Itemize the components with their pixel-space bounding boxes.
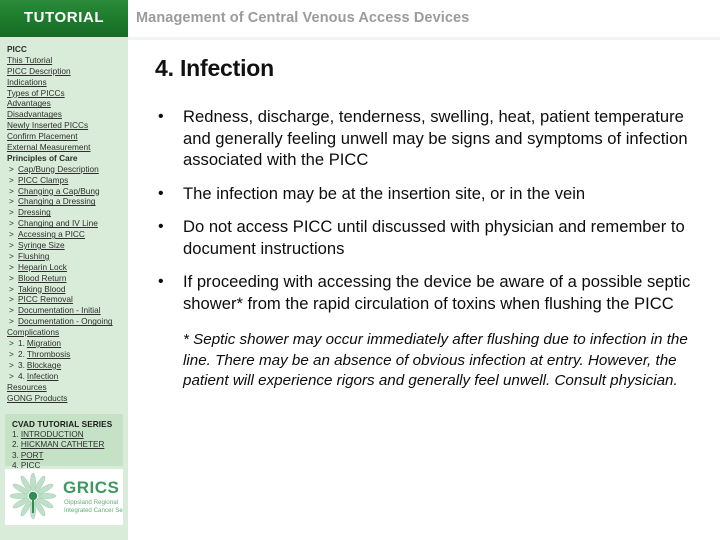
cvad-item-number: 1. (12, 430, 19, 440)
sidebar-item-accessing-a-picc[interactable]: >Accessing a PICC (0, 229, 128, 240)
grics-tagline-line2: Integrated Cancer Services (64, 507, 123, 514)
sidebar-item-label: Accessing a PICC (18, 229, 85, 239)
bullet-text: Redness, discharge, tenderness, swelling… (183, 106, 710, 171)
chevron-right-icon: > (9, 284, 18, 295)
sidebar-item-changing-a-dressing[interactable]: >Changing a Dressing (0, 196, 128, 207)
bullet-item: •Redness, discharge, tenderness, swellin… (155, 106, 710, 171)
sidebar-item-picc-removal[interactable]: >PICC Removal (0, 294, 128, 305)
cvad-item-number: 3. (12, 451, 19, 461)
sidebar-item-complications[interactable]: Complications (0, 327, 128, 338)
sidebar-item-resources[interactable]: Resources (0, 382, 128, 393)
bullet-text: The infection may be at the insertion si… (183, 183, 710, 205)
sidebar-item-changing-a-cap-bung[interactable]: >Changing a Cap/Bung (0, 186, 128, 197)
bullet-marker-icon: • (158, 216, 164, 238)
sidebar-item-migration[interactable]: >1.Migration (0, 338, 128, 349)
bullet-item: •If proceeding with accessing the device… (155, 271, 710, 314)
tutorial-tab-label: TUTORIAL (0, 9, 128, 26)
sidebar-item-label: PICC Clamps (18, 175, 68, 185)
sidebar-item-label: Heparin Lock (18, 262, 67, 272)
cvad-item-hickman-catheter[interactable]: 2.HICKMAN CATHETER (5, 440, 123, 450)
chevron-right-icon: > (9, 371, 18, 382)
sidebar-item-picc-description[interactable]: PICC Description (0, 66, 128, 77)
cvad-item-label: INTRODUCTION (21, 430, 84, 439)
sidebar-item-newly-inserted-piccs[interactable]: Newly Inserted PICCs (0, 120, 128, 131)
chevron-right-icon: > (9, 229, 18, 240)
chevron-right-icon: > (9, 305, 18, 316)
sidebar-item-label: Dressing (18, 207, 51, 217)
sidebar-item-types-of-piccs[interactable]: Types of PICCs (0, 88, 128, 99)
sidebar-item-disadvantages[interactable]: Disadvantages (0, 109, 128, 120)
sidebar-item-label: Syringe Size (18, 240, 65, 250)
sidebar-item-this-tutorial[interactable]: This Tutorial (0, 55, 128, 66)
chevron-right-icon: > (9, 273, 18, 284)
tutorial-tab[interactable]: TUTORIAL (0, 0, 128, 37)
sidebar-item-indications[interactable]: Indications (0, 77, 128, 88)
sidebar-item-label: Documentation - Ongoing (18, 316, 113, 326)
sidebar-heading-picc: PICC (0, 44, 128, 55)
chevron-right-icon: > (9, 218, 18, 229)
sidebar-item-number: 3. (18, 360, 25, 371)
sidebar-item-picc-clamps[interactable]: >PICC Clamps (0, 175, 128, 186)
page-title-header: Management of Central Venous Access Devi… (136, 10, 469, 26)
chevron-right-icon: > (9, 240, 18, 251)
sidebar-item-label: Documentation - Initial (18, 305, 101, 315)
chevron-right-icon: > (9, 262, 18, 273)
chevron-right-icon: > (9, 360, 18, 371)
cvad-item-port[interactable]: 3.PORT (5, 451, 123, 461)
chevron-right-icon: > (9, 338, 18, 349)
grics-logo: GRICS Gippsland Regional Integrated Canc… (5, 469, 123, 525)
bullet-item: •The infection may be at the insertion s… (155, 183, 710, 205)
grics-logo-graphic: GRICS Gippsland Regional Integrated Canc… (5, 469, 123, 525)
sidebar-item-label: Cap/Bung Description (18, 164, 99, 174)
sidebar-item-label: PICC Removal (18, 294, 73, 304)
chevron-right-icon: > (9, 349, 18, 360)
chevron-right-icon: > (9, 294, 18, 305)
cvad-series-title: CVAD TUTORIAL SERIES (5, 419, 123, 430)
bullet-marker-icon: • (158, 271, 164, 293)
chevron-right-icon: > (9, 316, 18, 327)
cvad-item-number: 2. (12, 440, 19, 450)
sidebar-item-label: Taking Blood (18, 284, 66, 294)
cvad-item-introduction[interactable]: 1.INTRODUCTION (5, 430, 123, 440)
sidebar-item-advantages[interactable]: Advantages (0, 98, 128, 109)
sidebar-item-documentation-initial[interactable]: >Documentation - Initial (0, 305, 128, 316)
grics-tagline-line1: Gippsland Regional (64, 499, 118, 506)
sidebar-item-confirm-placement[interactable]: Confirm Placement (0, 131, 128, 142)
sidebar-item-label: Changing a Dressing (18, 196, 95, 206)
bullet-text: Do not access PICC until discussed with … (183, 216, 710, 259)
chevron-right-icon: > (9, 175, 18, 186)
sidebar-item-label: Thrombosis (27, 349, 70, 359)
sidebar-item-label: Changing and IV Line (18, 218, 98, 228)
chevron-right-icon: > (9, 196, 18, 207)
chevron-right-icon: > (9, 207, 18, 218)
bullet-list: •Redness, discharge, tenderness, swellin… (155, 106, 710, 326)
sidebar-item-blockage[interactable]: >3.Blockage (0, 360, 128, 371)
bullet-marker-icon: • (158, 183, 164, 205)
sidebar-item-label: Changing a Cap/Bung (18, 186, 100, 196)
sidebar-nav: PICCThis TutorialPICC DescriptionIndicat… (0, 37, 128, 403)
sidebar-item-label: Blood Return (18, 273, 66, 283)
bullet-marker-icon: • (158, 106, 164, 128)
sidebar-item-label: Blockage (27, 360, 61, 370)
sidebar-item-dressing[interactable]: >Dressing (0, 207, 128, 218)
sidebar-item-infection[interactable]: >4.Infection (0, 371, 128, 382)
bullet-item: •Do not access PICC until discussed with… (155, 216, 710, 259)
sidebar-item-syringe-size[interactable]: >Syringe Size (0, 240, 128, 251)
bullet-text: If proceeding with accessing the device … (183, 271, 710, 314)
sidebar-item-taking-blood[interactable]: >Taking Blood (0, 284, 128, 295)
cvad-series-box: CVAD TUTORIAL SERIES 1.INTRODUCTION2.HIC… (5, 414, 123, 466)
page-header: TUTORIAL Management of Central Venous Ac… (0, 0, 720, 37)
sidebar-item-label: Migration (27, 338, 61, 348)
sidebar-item-thrombosis[interactable]: >2.Thrombosis (0, 349, 128, 360)
sidebar-item-blood-return[interactable]: >Blood Return (0, 273, 128, 284)
sidebar-item-external-measurement[interactable]: External Measurement (0, 142, 128, 153)
cvad-item-label: HICKMAN CATHETER (21, 440, 105, 449)
sidebar-item-number: 4. (18, 371, 25, 382)
grics-wordmark: GRICS (63, 478, 119, 497)
cvad-series-list: 1.INTRODUCTION2.HICKMAN CATHETER3.PORT4.… (5, 430, 123, 472)
sidebar-item-number: 1. (18, 338, 25, 349)
sidebar-item-label: Infection (27, 371, 58, 381)
sidebar-item-flushing[interactable]: >Flushing (0, 251, 128, 262)
sidebar-item-heparin-lock[interactable]: >Heparin Lock (0, 262, 128, 273)
chevron-right-icon: > (9, 164, 18, 175)
sidebar-heading-principles-of-care: Principles of Care (0, 153, 128, 164)
sidebar-item-number: 2. (18, 349, 25, 360)
sidebar-item-changing-and-iv-line[interactable]: >Changing and IV Line (0, 218, 128, 229)
sidebar-item-cap-bung-description[interactable]: >Cap/Bung Description (0, 164, 128, 175)
sidebar: PICCThis TutorialPICC DescriptionIndicat… (0, 37, 128, 540)
sidebar-item-label: Flushing (18, 251, 49, 261)
chevron-right-icon: > (9, 251, 18, 262)
main-content: 4. Infection •Redness, discharge, tender… (128, 40, 720, 540)
cvad-item-label: PORT (21, 451, 44, 460)
sidebar-item-documentation-ongoing[interactable]: >Documentation - Ongoing (0, 316, 128, 327)
slide-title: 4. Infection (155, 55, 274, 82)
sidebar-item-gong-products[interactable]: GONG Products (0, 393, 128, 404)
chevron-right-icon: > (9, 186, 18, 197)
footnote-text: * Septic shower may occur immediately af… (155, 330, 703, 392)
